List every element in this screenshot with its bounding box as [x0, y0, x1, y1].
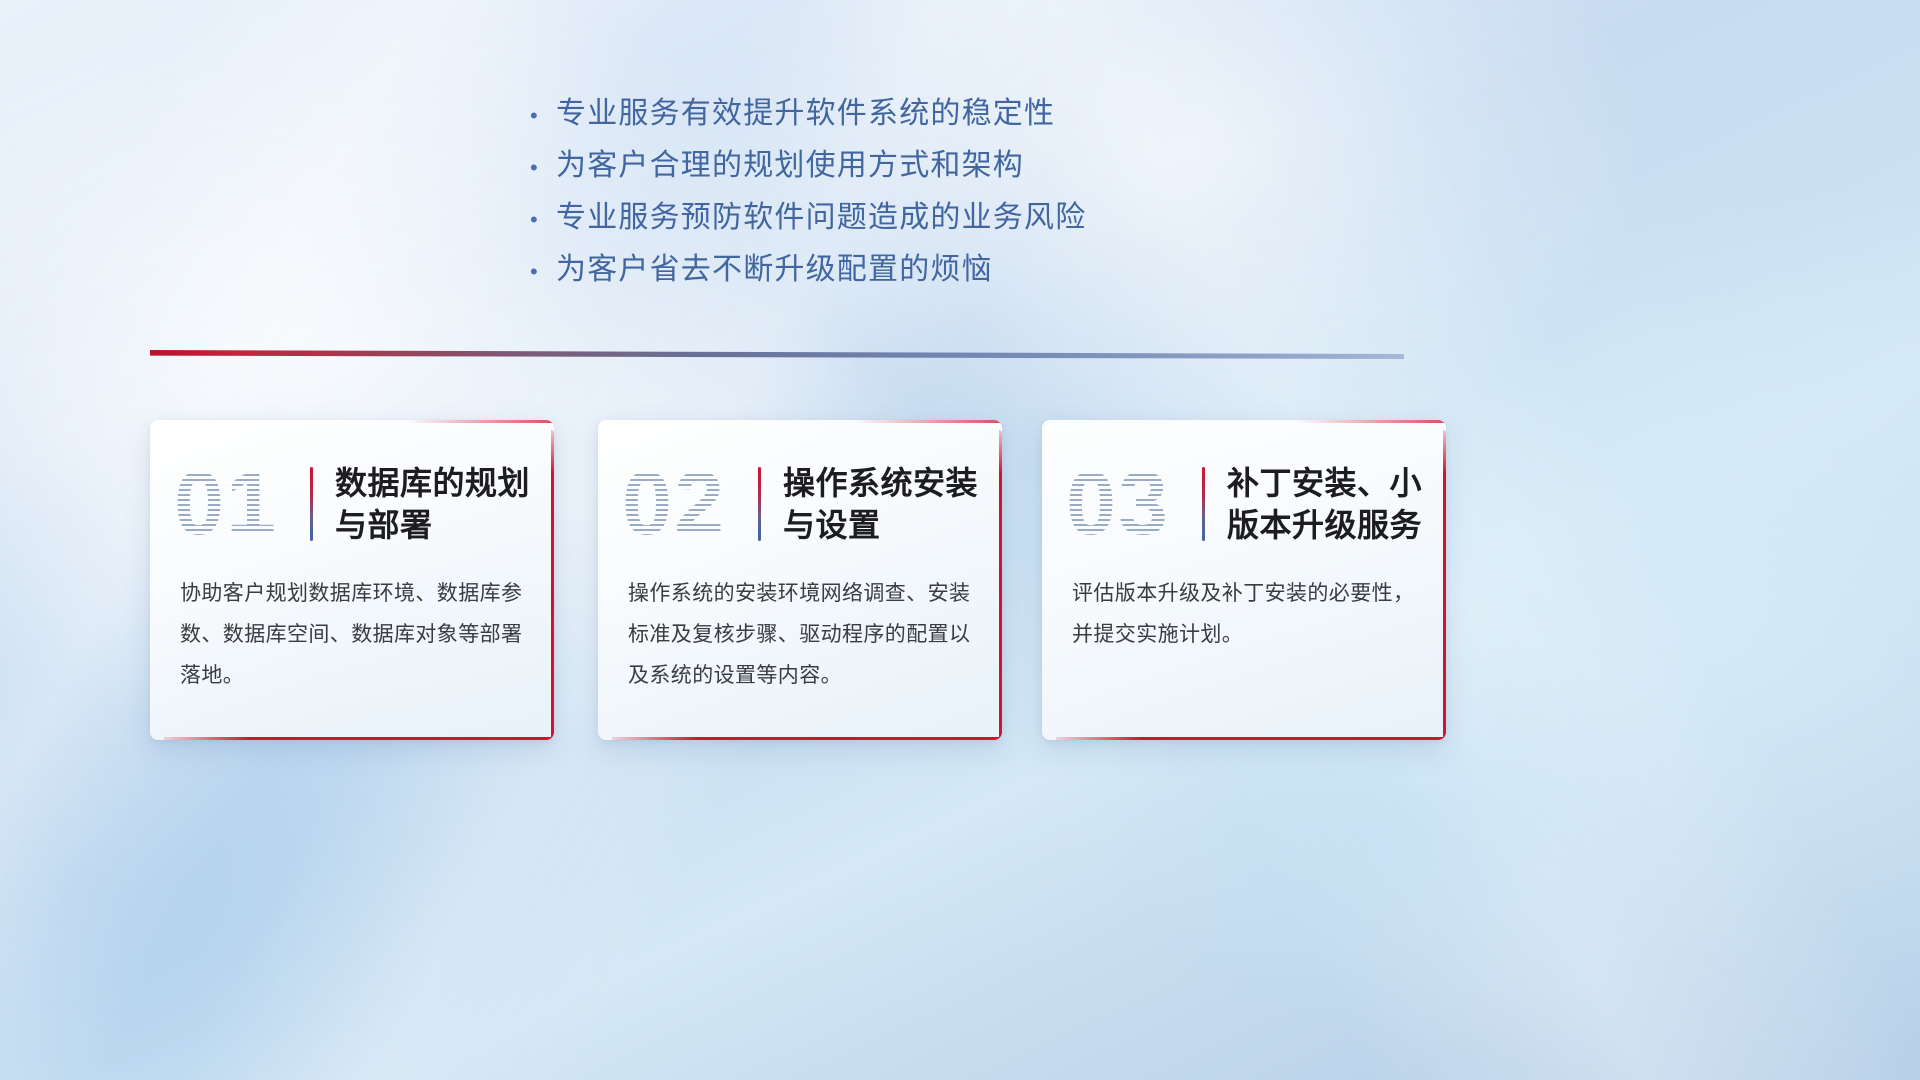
list-item: • 专业服务有效提升软件系统的稳定性 — [530, 88, 1250, 140]
bullet-text: 专业服务有效提升软件系统的稳定性 — [556, 88, 1055, 132]
card-group: 01 数据库的规划与部署 协助客户规划数据库环境、数据库参数、数据库空间、数据库… — [150, 420, 1460, 745]
card-number: 01 — [174, 459, 306, 549]
card-03[interactable]: 03 补丁安装、小版本升级服务 评估版本升级及补丁安装的必要性，并提交实施计划。 — [1042, 420, 1446, 740]
card-title: 数据库的规划与部署 — [335, 462, 532, 546]
card-title: 操作系统安装与设置 — [783, 462, 980, 546]
card-header: 02 操作系统安装与设置 — [598, 420, 1002, 570]
card-body-text: 操作系统的安装环境网络调查、安装标准及复核步骤、驱动程序的配置以及系统的设置等内… — [598, 570, 1002, 697]
card-header: 01 数据库的规划与部署 — [150, 420, 554, 570]
card-number: 03 — [1066, 459, 1198, 549]
bullet-text: 专业服务预防软件问题造成的业务风险 — [556, 192, 1086, 236]
divider-bar — [150, 350, 1404, 359]
card-title: 补丁安装、小版本升级服务 — [1227, 462, 1424, 546]
card-number: 02 — [622, 459, 754, 549]
list-item: • 为客户合理的规划使用方式和架构 — [530, 140, 1250, 192]
card-body-text: 协助客户规划数据库环境、数据库参数、数据库空间、数据库对象等部署落地。 — [150, 570, 554, 697]
list-item: • 专业服务预防软件问题造成的业务风险 — [530, 192, 1250, 244]
bullet-dot-icon: • — [530, 105, 556, 127]
slide-canvas: • 专业服务有效提升软件系统的稳定性 • 为客户合理的规划使用方式和架构 • 专… — [0, 0, 1920, 1080]
card-divider-rule — [758, 467, 761, 541]
bullet-dot-icon: • — [530, 209, 556, 231]
card-header: 03 补丁安装、小版本升级服务 — [1042, 420, 1446, 570]
card-01[interactable]: 01 数据库的规划与部署 协助客户规划数据库环境、数据库参数、数据库空间、数据库… — [150, 420, 554, 740]
section-divider — [150, 350, 1404, 359]
card-body-text: 评估版本升级及补丁安装的必要性，并提交实施计划。 — [1042, 570, 1446, 656]
bullet-text: 为客户省去不断升级配置的烦恼 — [556, 244, 993, 288]
list-item: • 为客户省去不断升级配置的烦恼 — [530, 244, 1250, 296]
card-divider-rule — [310, 467, 313, 541]
card-bottom-accent — [1056, 737, 1446, 740]
card-divider-rule — [1202, 467, 1205, 541]
card-bottom-accent — [612, 737, 1002, 740]
bullet-dot-icon: • — [530, 261, 556, 283]
card-02[interactable]: 02 操作系统安装与设置 操作系统的安装环境网络调查、安装标准及复核步骤、驱动程… — [598, 420, 1002, 740]
bullet-text: 为客户合理的规划使用方式和架构 — [556, 140, 1024, 184]
bullet-list: • 专业服务有效提升软件系统的稳定性 • 为客户合理的规划使用方式和架构 • 专… — [530, 88, 1250, 296]
bullet-dot-icon: • — [530, 157, 556, 179]
card-bottom-accent — [164, 737, 554, 740]
